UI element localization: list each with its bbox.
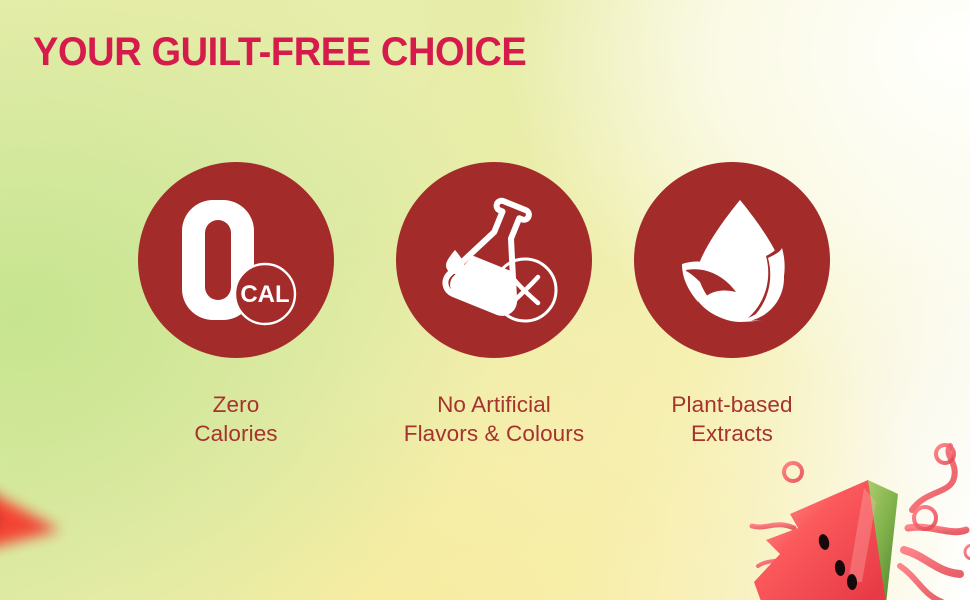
watermelon-wedge-blurred-icon (0, 444, 112, 579)
feature-item-zero-calories: CAL Zero Calories (138, 162, 334, 448)
feature-item-no-artificial-flavors: No Artificial Flavors & Colours (396, 162, 592, 448)
feature-label: Plant-based Extracts (602, 390, 862, 448)
feature-icon-circle (396, 162, 592, 358)
plant-based-droplet-leaf-icon (662, 190, 802, 330)
feature-icon-circle (634, 162, 830, 358)
feature-icon-circle: CAL (138, 162, 334, 358)
feature-label: No Artificial Flavors & Colours (364, 390, 624, 448)
feature-item-plant-based-extracts: Plant-based Extracts (634, 162, 830, 448)
feature-label: Zero Calories (194, 390, 277, 448)
zero-calorie-icon: CAL (166, 190, 306, 330)
feature-list: CAL Zero Calories (0, 162, 880, 448)
no-artificial-flavor-flask-icon (424, 190, 564, 330)
zero-calorie-badge-text: CAL (240, 281, 289, 308)
guilt-free-choice-banner: YOUR GUILT-FREE CHOICE CAL Zero Calories (0, 0, 970, 600)
page-title: YOUR GUILT-FREE CHOICE (33, 29, 526, 75)
watermelon-slice-splash-icon (736, 432, 970, 600)
